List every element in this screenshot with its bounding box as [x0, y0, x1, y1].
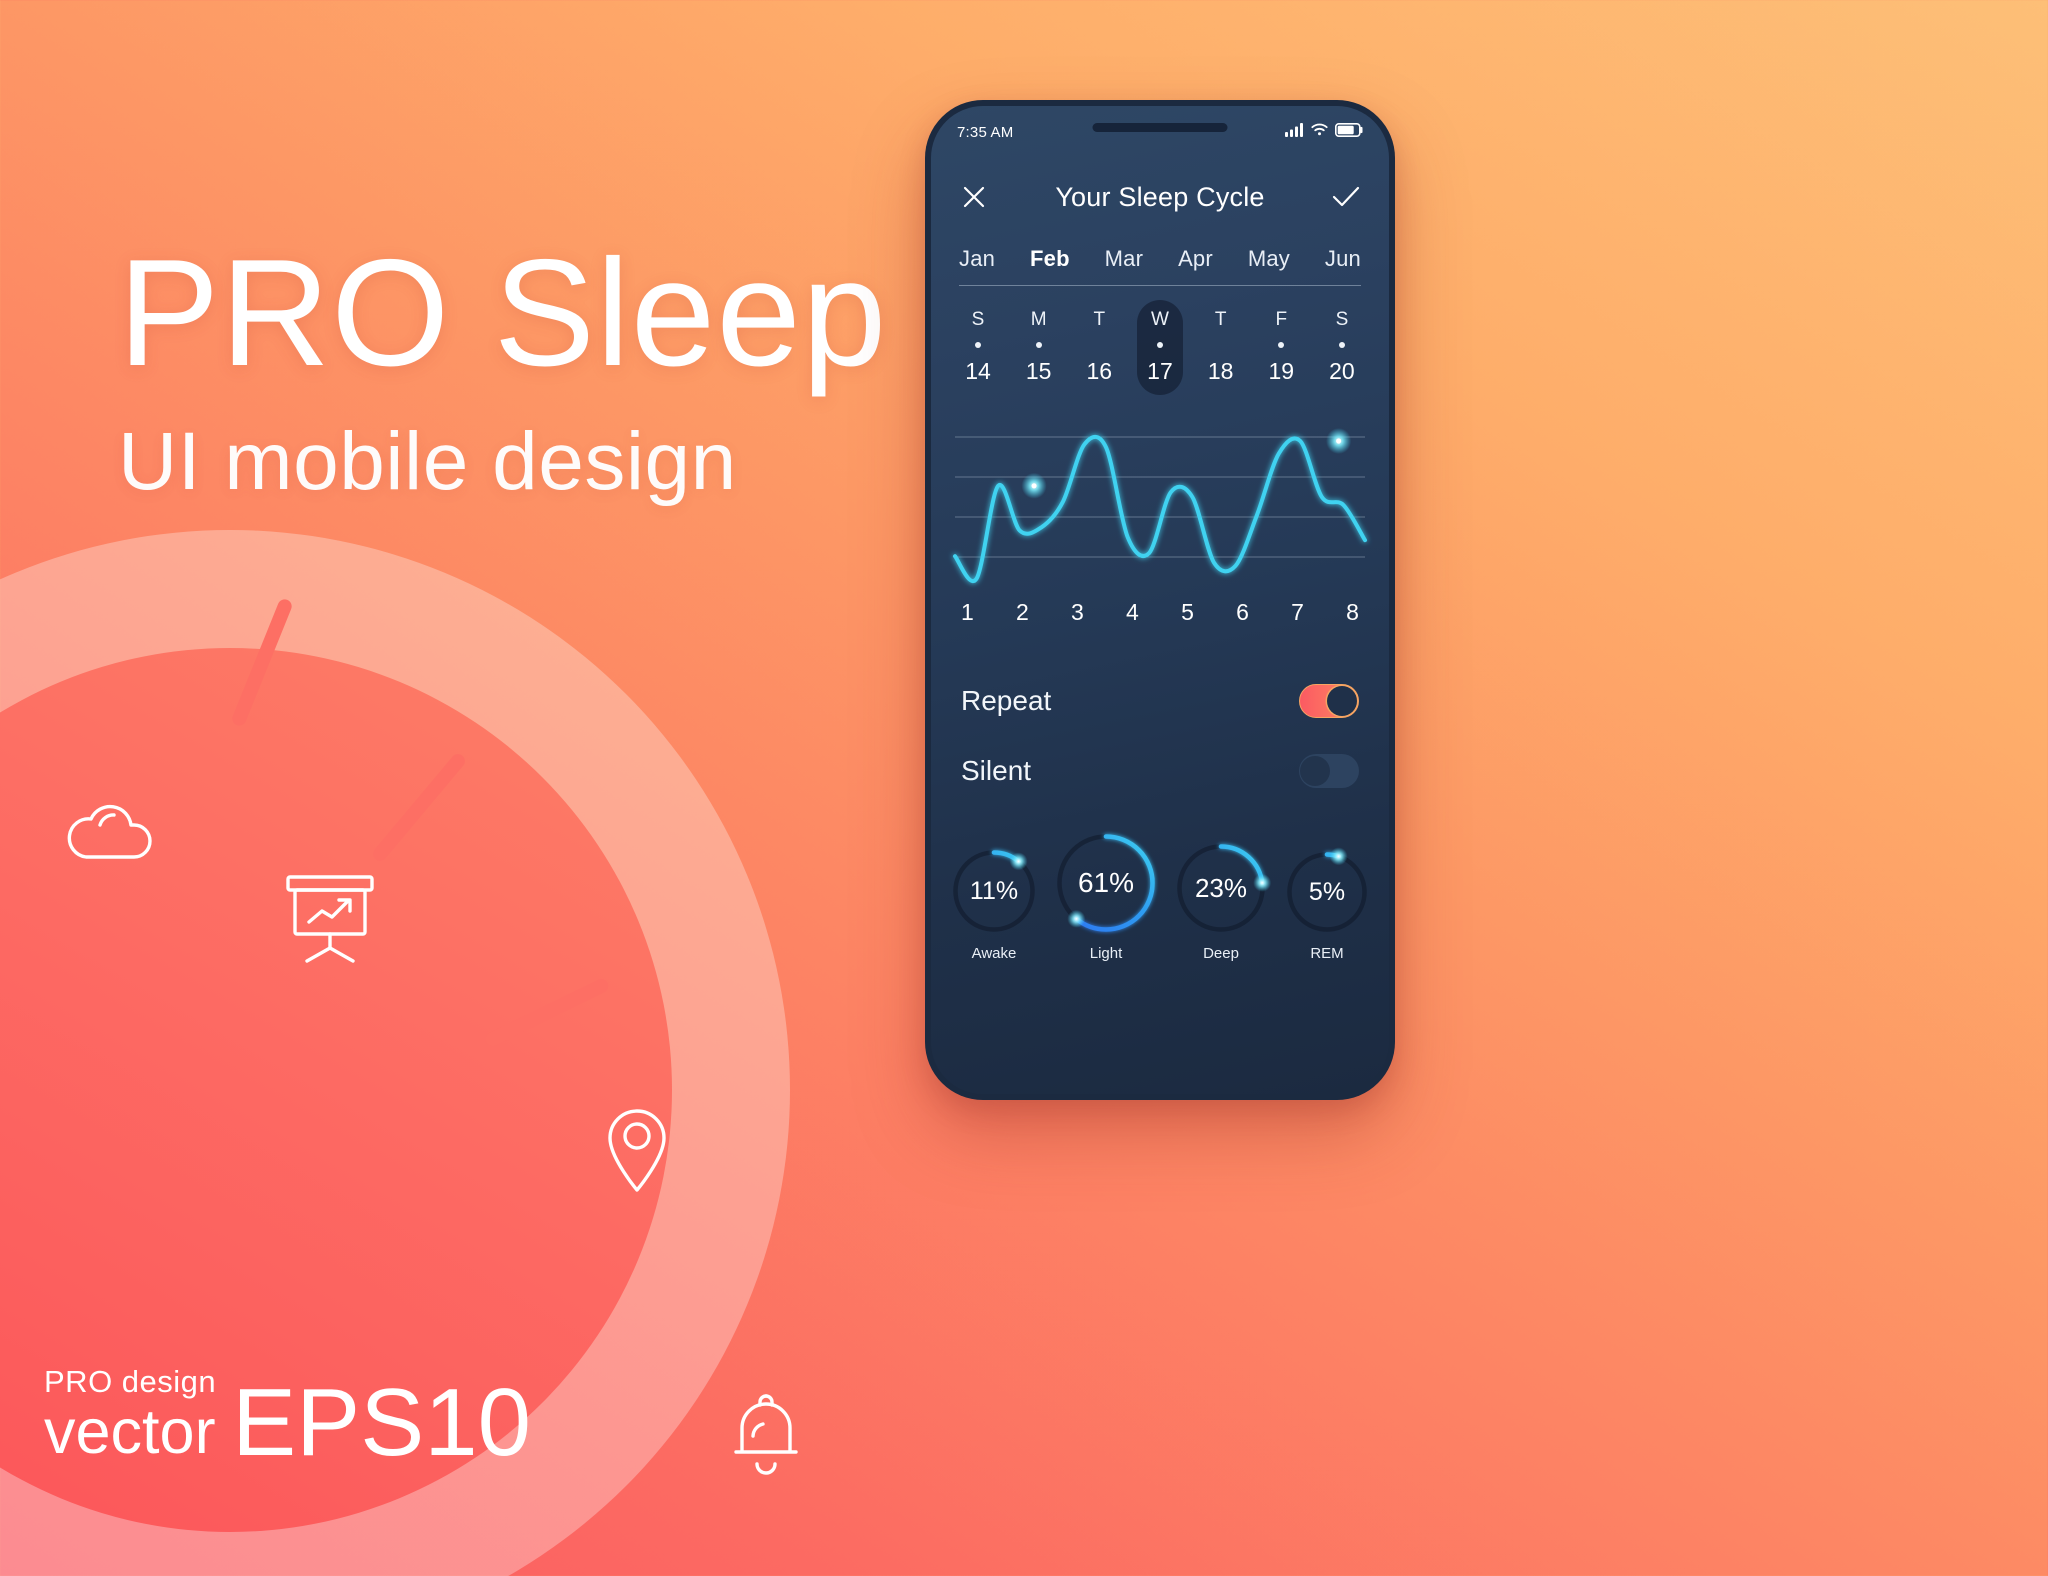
chart-x-tick: 8 — [1346, 599, 1359, 626]
toggle-repeat[interactable] — [1299, 684, 1359, 718]
eps-block: PRO design vector EPS10 — [44, 1366, 531, 1468]
close-icon[interactable] — [957, 180, 991, 214]
chart-x-tick: 1 — [961, 599, 974, 626]
day-letter: W — [1151, 309, 1169, 331]
day-number: 16 — [1087, 358, 1113, 385]
day-number: 20 — [1329, 358, 1355, 385]
day-activity-dot — [1278, 342, 1284, 348]
stat-percent: 11% — [951, 848, 1037, 934]
stat-rem: 5%REM — [1285, 850, 1369, 962]
stat-percent: 61% — [1055, 832, 1157, 934]
day-activity-dot — [1339, 342, 1345, 348]
toggle-knob — [1300, 756, 1330, 786]
signal-icon — [1285, 123, 1304, 142]
month-selector[interactable]: JanFebMarAprMayJun — [931, 236, 1389, 272]
notch-speaker — [1093, 123, 1228, 132]
day-cell-15[interactable]: M15 — [1016, 300, 1062, 395]
day-cell-18[interactable]: T18 — [1198, 300, 1244, 395]
stat-awake: 11%Awake — [951, 848, 1037, 962]
dial-tick-2 — [370, 751, 468, 863]
stat-deep: 23%Deep — [1175, 842, 1267, 962]
presentation-chart-icon — [282, 873, 378, 965]
month-tab-may[interactable]: May — [1248, 246, 1290, 272]
day-number: 17 — [1147, 358, 1173, 385]
chart-x-tick: 6 — [1236, 599, 1249, 626]
peak-glow-1 — [1021, 473, 1046, 499]
page-title: Your Sleep Cycle — [991, 182, 1329, 213]
day-activity-dot — [1157, 342, 1163, 348]
chart-x-tick: 4 — [1126, 599, 1139, 626]
chart-x-axis: 12345678 — [931, 585, 1389, 626]
day-cell-19[interactable]: F19 — [1258, 300, 1304, 395]
nav-bar: Your Sleep Cycle — [931, 158, 1389, 236]
day-activity-dot — [975, 342, 981, 348]
day-letter: T — [1215, 309, 1227, 331]
battery-icon — [1335, 123, 1363, 142]
day-selector[interactable]: S14M15T16W17T18F19S20 — [931, 286, 1389, 395]
month-tab-jun[interactable]: Jun — [1325, 246, 1361, 272]
status-bar: 7:35 AM — [931, 106, 1389, 158]
dial-tick-3 — [483, 977, 610, 1049]
stat-percent: 5% — [1285, 850, 1369, 934]
setting-row-silent: Silent — [961, 736, 1359, 806]
day-activity-dot — [1036, 342, 1042, 348]
chart-x-tick: 2 — [1016, 599, 1029, 626]
location-pin-icon — [604, 1106, 670, 1194]
day-cell-14[interactable]: S14 — [955, 300, 1001, 395]
settings-list: RepeatSilent — [931, 626, 1389, 806]
setting-row-repeat: Repeat — [961, 666, 1359, 736]
dial-tick-1 — [230, 597, 294, 727]
day-number: 15 — [1026, 358, 1052, 385]
peak-glow-2 — [1326, 428, 1351, 454]
month-tab-feb[interactable]: Feb — [1030, 246, 1070, 272]
stat-label: Deep — [1203, 945, 1239, 962]
chart-x-tick: 5 — [1181, 599, 1194, 626]
sleep-cycle-chart — [955, 425, 1365, 585]
sleep-stats: 11%Awake61%Light23%Deep5%REM — [931, 806, 1389, 962]
day-letter: M — [1031, 309, 1047, 331]
day-letter: S — [972, 309, 985, 331]
day-number: 14 — [965, 358, 991, 385]
eps-code-label: EPS10 — [232, 1377, 531, 1468]
cloud-icon — [62, 795, 158, 861]
day-cell-17[interactable]: W17 — [1137, 300, 1183, 395]
toggle-knob — [1327, 686, 1357, 716]
month-tab-apr[interactable]: Apr — [1178, 246, 1213, 272]
check-icon[interactable] — [1329, 180, 1363, 214]
sleep-chart-svg — [955, 425, 1365, 585]
day-cell-20[interactable]: S20 — [1319, 300, 1365, 395]
day-cell-16[interactable]: T16 — [1076, 300, 1122, 395]
day-letter: T — [1094, 309, 1106, 331]
stat-percent: 23% — [1175, 842, 1267, 934]
month-tab-jan[interactable]: Jan — [959, 246, 995, 272]
sleep-curve — [955, 437, 1365, 581]
day-letter: F — [1275, 309, 1287, 331]
vector-label: vector — [44, 1401, 216, 1464]
stat-label: Awake — [972, 945, 1017, 962]
bell-icon — [730, 1390, 802, 1476]
phone-screen: 7:35 AM — [931, 106, 1389, 1094]
wifi-icon — [1311, 123, 1328, 141]
day-letter: S — [1336, 309, 1349, 331]
setting-label: Silent — [961, 755, 1299, 787]
stat-label: REM — [1310, 945, 1343, 962]
chart-x-tick: 7 — [1291, 599, 1304, 626]
setting-label: Repeat — [961, 685, 1299, 717]
pro-design-label: PRO design — [44, 1366, 216, 1397]
stat-label: Light — [1090, 945, 1123, 962]
phone-frame: 7:35 AM — [925, 100, 1395, 1100]
day-number: 19 — [1268, 358, 1294, 385]
toggle-silent[interactable] — [1299, 754, 1359, 788]
status-time: 7:35 AM — [957, 124, 1013, 141]
month-tab-mar[interactable]: Mar — [1105, 246, 1144, 272]
chart-x-tick: 3 — [1071, 599, 1084, 626]
day-number: 18 — [1208, 358, 1234, 385]
stat-light: 61%Light — [1055, 832, 1157, 962]
